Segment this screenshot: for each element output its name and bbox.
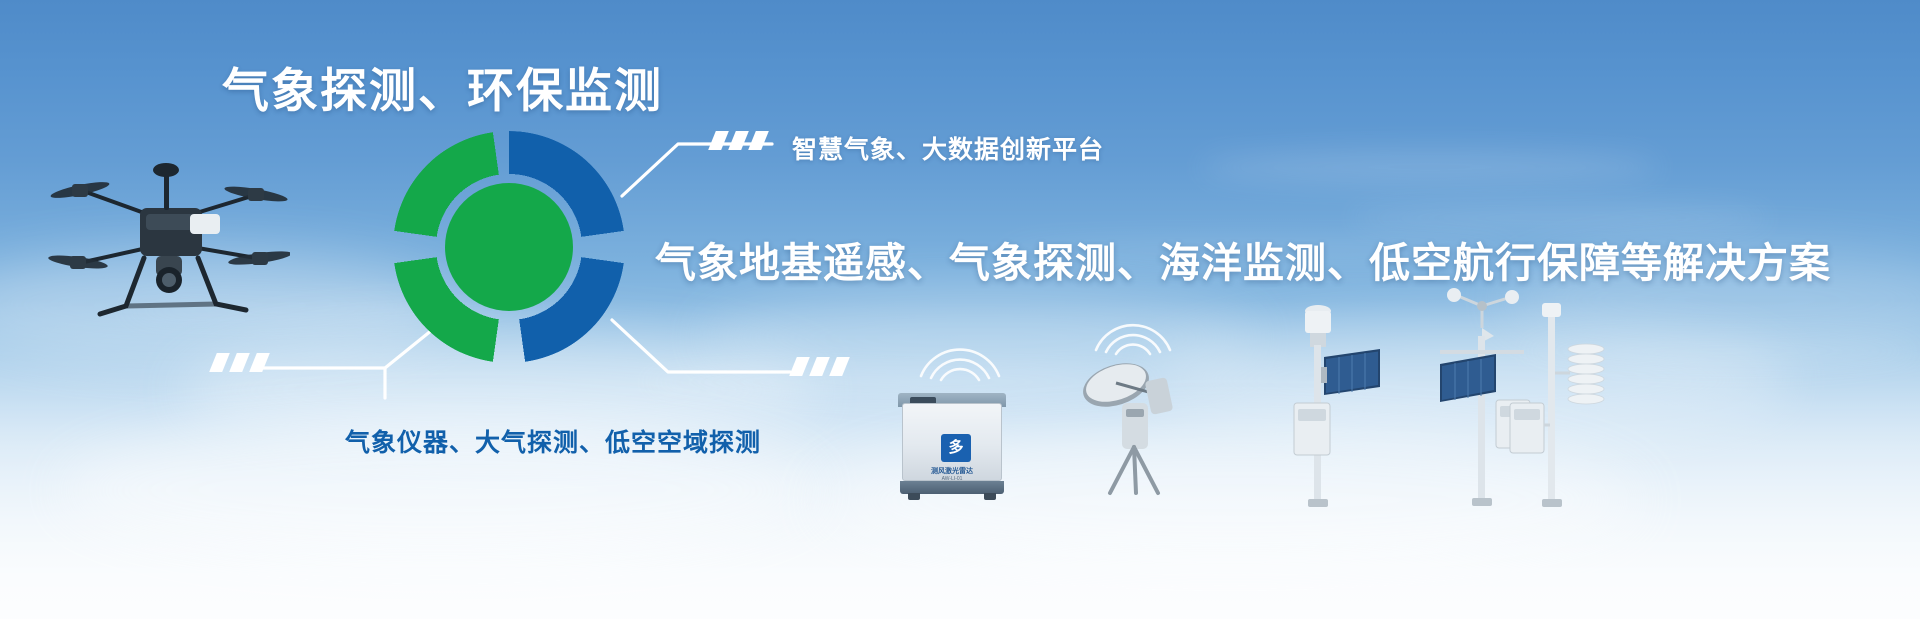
label-platform: 智慧气象、大数据创新平台 xyxy=(792,130,1104,166)
lidar-foot xyxy=(984,493,996,500)
lidar-caption: 测风激光雷达 AW-LI-01 xyxy=(903,466,1001,482)
signal-waves-radar xyxy=(1078,300,1188,362)
lidar-brand-mark: 多 xyxy=(941,434,971,462)
page-title: 气象探测、环保监测 xyxy=(222,52,663,121)
lidar-body: 多 测风激光雷达 AW-LI-01 xyxy=(902,403,1002,481)
signal-waves-lidar xyxy=(905,320,1015,390)
weather-station-a xyxy=(1280,295,1390,510)
slash-accent-top xyxy=(712,131,765,150)
ring-core-circle xyxy=(445,183,573,311)
radar-dish xyxy=(1070,355,1190,500)
lidar-foot xyxy=(908,493,920,500)
banner-image: 气象探测、环保监测 智慧气象、大数据创新平台 气象地基遥感、气象探测、海洋监测、… xyxy=(0,0,1920,619)
cloud-wisp xyxy=(1200,150,1660,184)
cloud-wisp xyxy=(1350,205,1770,231)
label-solutions: 气象地基遥感、气象探测、海洋监测、低空航行保障等解决方案 xyxy=(655,229,1831,289)
lidar-caption-main: 测风激光雷达 xyxy=(931,468,973,475)
weather-station-c xyxy=(1490,285,1610,510)
slash-accent-bottom-left xyxy=(213,353,266,372)
label-instruments: 气象仪器、大气探测、低空空域探测 xyxy=(345,423,761,459)
drone xyxy=(40,150,290,350)
slash-accent-bottom-right xyxy=(793,357,846,376)
ring-diagram xyxy=(393,131,625,363)
lidar-unit: 多 测风激光雷达 AW-LI-01 xyxy=(898,385,1008,500)
